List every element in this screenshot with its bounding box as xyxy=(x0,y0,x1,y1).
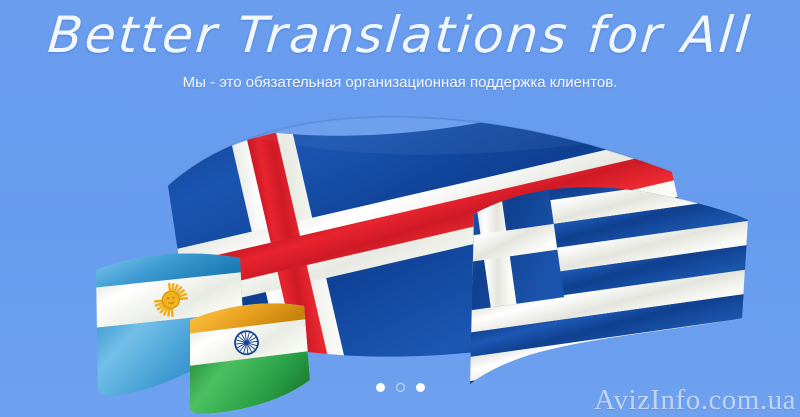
site-watermark: AvizInfo.com.ua xyxy=(594,384,796,416)
banner-subtitle: Мы - это обязательная организационная по… xyxy=(0,73,800,93)
carousel-dot-1[interactable] xyxy=(376,383,385,392)
page-title: Better Translations for All xyxy=(0,4,800,66)
carousel-dot-2[interactable] xyxy=(396,383,405,392)
banner-slide: Better Translations for All Мы - это обя… xyxy=(0,0,800,417)
carousel-dot-3[interactable] xyxy=(416,383,425,392)
